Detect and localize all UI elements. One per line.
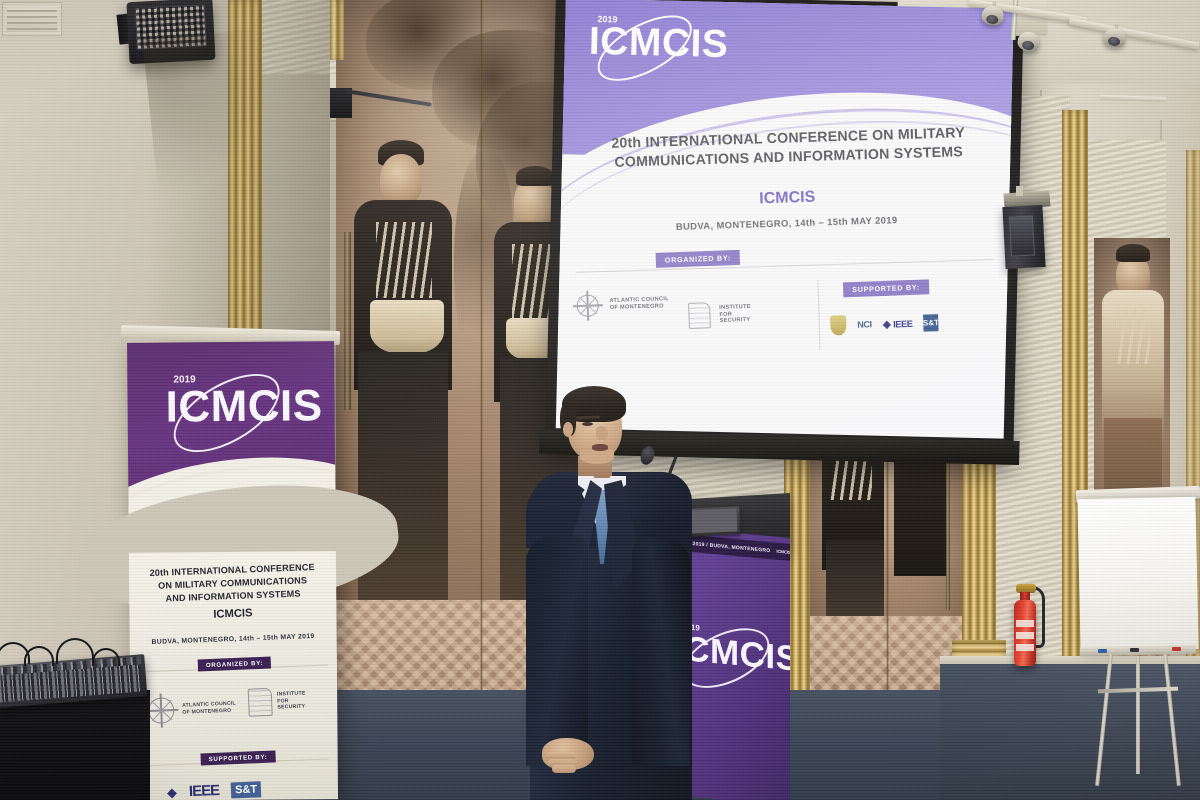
banner-organizer-1-line-2: OF MONTENEGRO <box>182 708 236 717</box>
banner-organizer-atlantic-council: ATLANTIC COUNCIL OF MONTENEGRO <box>146 693 237 727</box>
mouth <box>592 444 608 451</box>
organizer-2-line-1: INSTITUTE <box>719 303 751 311</box>
podium-mini-logo-right: ICMCIS <box>776 549 790 555</box>
ceiling-spotlight <box>980 1 1005 28</box>
chin <box>580 450 614 464</box>
speaker-grille <box>1009 216 1035 257</box>
organizer-1-line-2: OF MONTENEGRO <box>610 303 670 312</box>
marker-pen <box>1098 649 1107 653</box>
equipment-table <box>0 690 150 800</box>
ieee-label: IEEE <box>893 317 913 329</box>
flipchart-paper <box>1077 497 1198 651</box>
montenegro-crest-icon <box>830 315 847 336</box>
banner-supporter-logos: ◆ IEEE S&T <box>167 780 262 800</box>
open-book-icon <box>248 688 273 717</box>
flipchart-easel <box>1076 488 1200 788</box>
banner-organizer-2-line-1: INSTITUTE <box>277 690 306 698</box>
rollup-banner-stand: 2019 ICMCIS 20th INTERNATIONAL CONFERENC… <box>127 337 338 800</box>
ear <box>563 422 573 437</box>
slide-organizer-logo-institute-for-security: INSTITUTE FOR SECURITY <box>688 301 751 329</box>
ieee-diamond-icon: ◆ <box>882 317 891 330</box>
gold-fluted-pilaster <box>330 0 344 60</box>
nato-compass-star-icon <box>146 695 177 726</box>
marker-pen <box>1172 647 1181 651</box>
eye <box>582 422 593 426</box>
speaker-person <box>520 386 700 800</box>
wall-air-vent <box>2 2 62 36</box>
wall-mounted-loudspeaker <box>1002 205 1045 269</box>
easel-leg <box>1136 656 1140 774</box>
ieee-diamond-icon: ◆ <box>167 784 178 800</box>
ceiling-spotlight <box>1016 26 1041 53</box>
banner-logo-wordmark: ICMCIS <box>165 387 322 427</box>
banner-organizer-institute-for-security: INSTITUTE FOR SECURITY <box>248 686 307 716</box>
open-book-icon <box>688 302 711 329</box>
banner-icmcis-logo: 2019 ICMCIS <box>165 375 306 454</box>
presentation-slide: 2019 ICMCIS 20th INTERNATIONAL CONFERENC… <box>556 0 1014 439</box>
easel-leg <box>1163 654 1181 786</box>
banner-title: 20th INTERNATIONAL CONFERENCE ON MILITAR… <box>140 561 324 606</box>
hand <box>542 738 594 770</box>
podium-diagonal-highlight <box>718 737 790 800</box>
slide-icmcis-logo: 2019 ICMCIS <box>586 15 718 84</box>
organizer-2-line-3: SECURITY <box>720 317 752 325</box>
nato-compass-star-icon <box>574 292 601 319</box>
slide-supported-by-chip: SUPPORTED BY: <box>843 279 929 297</box>
conference-hall-photo: 2019 ICMCIS 20th INTERNATIONAL CONFERENC… <box>0 0 1200 800</box>
slide-logo-wordmark: ICMCIS <box>588 25 728 63</box>
banner-organizer-2-line-3: SECURITY <box>277 704 306 712</box>
st-box-icon: S&T <box>923 314 939 331</box>
nose <box>596 426 608 440</box>
st-box-icon: S&T <box>231 781 262 798</box>
slide-organized-by-chip: ORGANIZED BY: <box>656 250 741 268</box>
easel-leg <box>1095 654 1113 786</box>
speaker-mount-bolt <box>1016 186 1023 196</box>
left-arm-sleeve <box>526 536 588 766</box>
ceiling-spotlight <box>1102 22 1128 49</box>
slide-organizer-logo-atlantic-council: ATLANTIC COUNCIL OF MONTENEGRO <box>574 290 669 319</box>
nci-agency-icon: NCI <box>857 319 872 329</box>
right-arm-sleeve <box>632 538 690 766</box>
marker-pen <box>1130 648 1139 652</box>
banner-ieee-label: IEEE <box>189 782 220 800</box>
slide-supporter-logos: NCI ◆ IEEE S&T <box>830 312 939 335</box>
fire-extinguisher <box>1014 600 1036 666</box>
